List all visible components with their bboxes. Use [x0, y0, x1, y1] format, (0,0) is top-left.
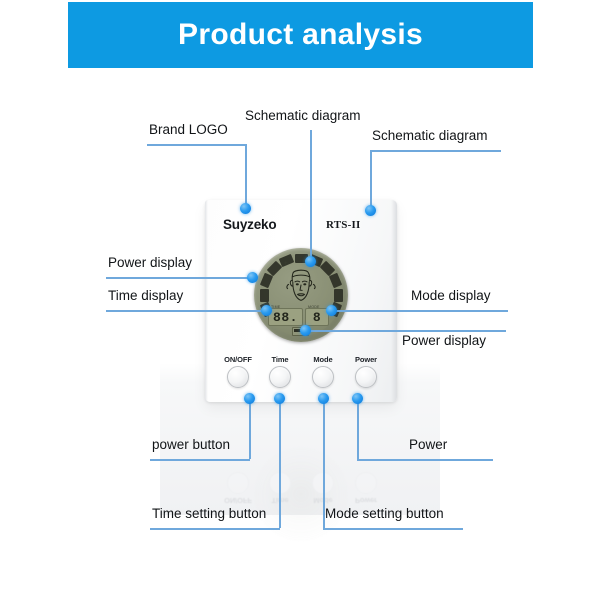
callout-power-display-left-label: Power display — [108, 255, 192, 270]
infographic-canvas: Product analysis Suyzeko RTS-II + + — [0, 0, 600, 600]
callout-power-display-left-line — [106, 277, 252, 279]
time-button-label: Time — [260, 355, 300, 364]
mode-button-label: Mode — [303, 355, 343, 364]
lcd-segment-bar — [260, 289, 269, 302]
time-button-cap[interactable] — [269, 366, 291, 388]
callout-schematic-top-label: Schematic diagram — [245, 108, 361, 123]
callout-power-bottom-right-line — [357, 459, 493, 461]
callout-power-display-right-label: Power display — [402, 333, 486, 348]
reflection-on-off-label: ON/OFF — [218, 496, 258, 505]
on-off-button-label: ON/OFF — [218, 355, 258, 364]
lcd-segment-bar — [334, 289, 343, 302]
callout-time-display-left-label: Time display — [108, 288, 183, 303]
face-icon — [280, 264, 322, 308]
mode-mini-label: MODE — [308, 305, 320, 309]
callout-power-button-riser — [249, 400, 251, 459]
callout-power-button-underline — [150, 459, 250, 461]
callout-time-setting-underline — [150, 528, 280, 530]
device-photo: Suyzeko RTS-II + + — [160, 185, 440, 515]
reflection-power: Power — [346, 472, 386, 505]
callout-brand-logo-label: Brand LOGO — [149, 122, 228, 137]
callout-mode-display-right-line — [330, 310, 508, 312]
callout-schematic-right-label: Schematic diagram — [372, 128, 488, 143]
button-row: ON/OFF Time Mode Power — [218, 355, 388, 399]
callout-mode-display-right-label: Mode display — [411, 288, 491, 303]
callout-dot-time-display-left[interactable] — [261, 305, 272, 316]
callout-dot-brand-logo[interactable] — [240, 203, 251, 214]
callout-schematic-top-drop — [310, 130, 312, 264]
reflection-power-cap — [355, 472, 377, 494]
panel-left-edge — [205, 200, 208, 402]
callout-power-display-right-line — [305, 330, 506, 332]
callout-schematic-right-underline — [370, 150, 501, 152]
on-off-button-cap[interactable] — [227, 366, 249, 388]
callout-dot-power-display-left[interactable] — [247, 272, 258, 283]
mode-display-value: 8 — [313, 311, 321, 324]
callout-brand-logo-drop — [245, 144, 247, 210]
callout-time-display-left-line — [106, 310, 266, 312]
callout-power-button-label: power button — [152, 437, 230, 452]
callout-dot-schematic-right[interactable] — [365, 205, 376, 216]
callout-dot-mode-setting[interactable] — [318, 393, 329, 404]
power-button-label: Power — [346, 355, 386, 364]
callout-schematic-right-drop — [370, 150, 372, 212]
device-reflection: ON/OFF Time Mode Power — [205, 405, 397, 505]
time-mini-label: TIME — [271, 305, 280, 309]
callout-time-setting-riser — [279, 400, 281, 528]
reflection-power-label: Power — [346, 496, 386, 505]
callout-dot-power-display-right[interactable] — [300, 325, 311, 336]
callout-brand-logo-underline — [147, 144, 246, 146]
brand-logo-text: Suyzeko — [223, 217, 276, 232]
page-title: Product analysis — [178, 18, 423, 52]
callout-dot-schematic-top[interactable] — [305, 256, 316, 267]
on-off-button[interactable]: ON/OFF — [218, 355, 258, 388]
header-banner: Product analysis — [68, 2, 533, 68]
callout-mode-setting-label: Mode setting button — [325, 506, 444, 521]
callout-dot-mode-display-right[interactable] — [326, 305, 337, 316]
panel-right-edge — [391, 200, 397, 402]
callout-power-bottom-right-label: Power — [409, 437, 447, 452]
time-display-value: 88. — [273, 311, 298, 324]
reflection-on-off-cap — [227, 472, 249, 494]
callout-dot-power-button[interactable] — [244, 393, 255, 404]
power-button[interactable]: Power — [346, 355, 386, 388]
time-display-box: 88. — [268, 308, 303, 326]
power-button-cap[interactable] — [355, 366, 377, 388]
callout-mode-setting-riser — [323, 400, 325, 528]
callout-dot-power-bottom-right[interactable] — [352, 393, 363, 404]
reflection-on-off: ON/OFF — [218, 472, 258, 505]
mode-button-cap[interactable] — [312, 366, 334, 388]
callout-power-bottom-right-riser — [357, 400, 359, 459]
mode-button[interactable]: Mode — [303, 355, 343, 388]
callout-mode-setting-underline — [323, 528, 463, 530]
callout-dot-time-setting[interactable] — [274, 393, 285, 404]
callout-time-setting-label: Time setting button — [152, 506, 266, 521]
time-button[interactable]: Time — [260, 355, 300, 388]
device-panel: Suyzeko RTS-II + + — [205, 200, 397, 402]
model-name-text: RTS-II — [326, 219, 360, 231]
